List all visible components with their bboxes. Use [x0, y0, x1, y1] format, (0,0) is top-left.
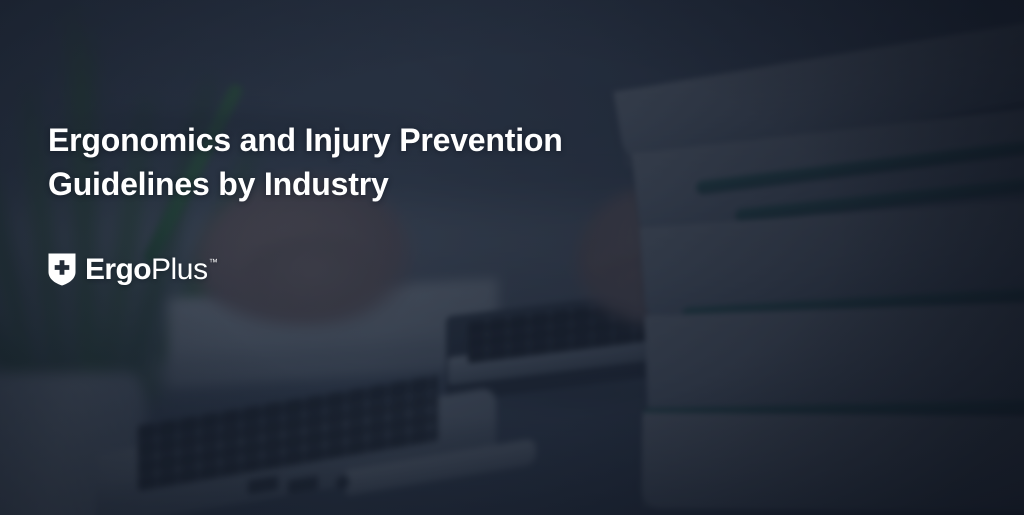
page-title-line-2: Guidelines by Industry: [48, 166, 389, 202]
blog-header-banner: Ergonomics and Injury Prevention Guideli…: [0, 0, 1024, 515]
ergoplus-logo[interactable]: Ergo Plus ™: [48, 253, 218, 286]
logo-trademark-symbol: ™: [209, 258, 218, 267]
page-title-line-1: Ergonomics and Injury Prevention: [48, 122, 563, 158]
ergoplus-wordmark: Ergo Plus ™: [85, 255, 218, 285]
shield-plus-icon: [48, 253, 76, 286]
page-title: Ergonomics and Injury Prevention Guideli…: [48, 118, 563, 206]
logo-brand-bold: Ergo: [85, 255, 151, 285]
banner-content: Ergonomics and Injury Prevention Guideli…: [48, 0, 668, 515]
logo-brand-light: Plus: [151, 255, 208, 285]
